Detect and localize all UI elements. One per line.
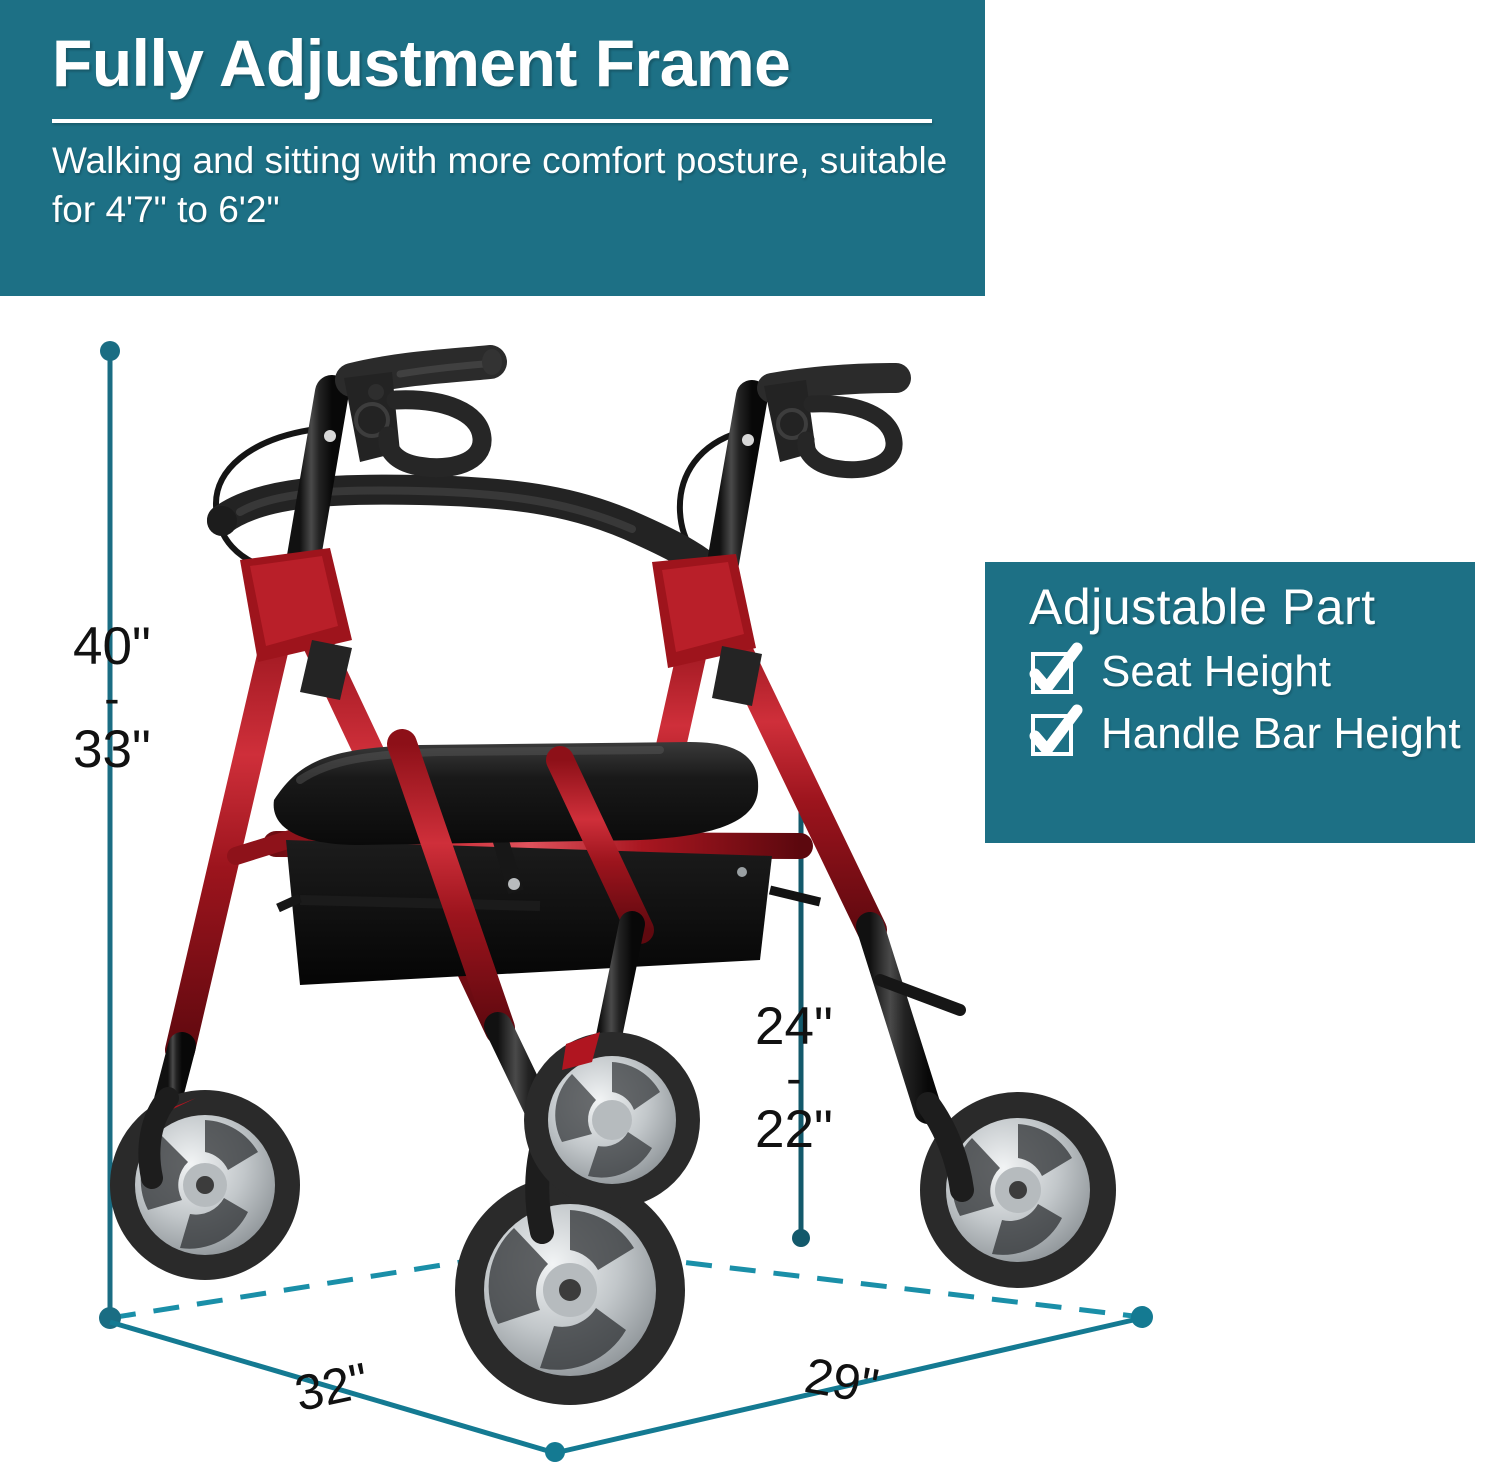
wheel-rear-left — [110, 1090, 300, 1280]
bag-rivet-center — [508, 878, 520, 890]
wheel-rear-center — [524, 1032, 700, 1208]
seat-line-bottom-dot — [792, 1229, 810, 1247]
handle-height-min: 33" — [73, 723, 151, 776]
left-cable-ferrule — [324, 430, 336, 442]
hubcap-rear-center — [592, 1100, 632, 1140]
right-front-leg-extension — [870, 926, 928, 1110]
adjustable-part-title: Adjustable Part — [1029, 578, 1475, 636]
seat-height-max: 24" — [755, 1000, 833, 1053]
checkmark-icon — [1025, 704, 1085, 764]
checkmark-icon — [1025, 642, 1085, 702]
right-brake-lever — [806, 404, 894, 470]
adjustable-item-label: Seat Height — [1101, 650, 1331, 694]
bottom-vertex-dot — [545, 1442, 565, 1462]
adjustable-part-card: Adjustable Part Seat Height Handle Bar H… — [982, 559, 1478, 846]
infographic-canvas: Fully Adjustment Frame Walking and sitti… — [0, 0, 1500, 1462]
seat-height-min: 22" — [755, 1103, 833, 1156]
bag-body — [286, 840, 772, 985]
axle-rear-left — [196, 1176, 214, 1194]
right-cable-ferrule — [742, 434, 754, 446]
checkbox-checked-icon[interactable] — [1029, 646, 1081, 698]
bag-strap-right — [770, 890, 820, 902]
handle-height-dash: - — [73, 675, 151, 721]
left-brake-lever — [388, 400, 482, 468]
left-handle-assembly — [300, 349, 502, 580]
right-handle-assembly — [720, 378, 896, 580]
adjustable-item-handle-bar-height[interactable]: Handle Bar Height — [1029, 708, 1475, 760]
left-grip-end-cap — [482, 349, 502, 375]
seat-cushion — [274, 742, 758, 845]
bag-rivet-right — [737, 867, 747, 877]
backrest-left-cap — [207, 506, 237, 536]
rollator-walker-product — [110, 349, 1116, 1405]
right-vertex-dot — [1131, 1306, 1153, 1328]
frame-left-rear-leg — [180, 596, 286, 1050]
bag-strap-horizontal — [300, 900, 540, 906]
right-handle-post — [720, 396, 752, 580]
axle-front-right — [1009, 1181, 1027, 1199]
left-brake-pivot — [368, 384, 384, 400]
checkbox-checked-icon[interactable] — [1029, 708, 1081, 760]
wheel-front-center — [455, 1175, 685, 1405]
seat-height-dash: - — [755, 1055, 833, 1101]
adjustable-item-label: Handle Bar Height — [1101, 712, 1461, 756]
frame-width-label: 29" — [801, 1346, 883, 1416]
storage-bag — [278, 838, 820, 985]
adjustable-item-seat-height[interactable]: Seat Height — [1029, 646, 1475, 698]
seat-height-label: 24" - 22" — [755, 1000, 833, 1156]
handle-height-label: 40" - 33" — [73, 620, 151, 776]
height-line-top-dot — [100, 341, 120, 361]
handle-height-max: 40" — [73, 620, 151, 673]
axle-front-center — [559, 1279, 581, 1301]
